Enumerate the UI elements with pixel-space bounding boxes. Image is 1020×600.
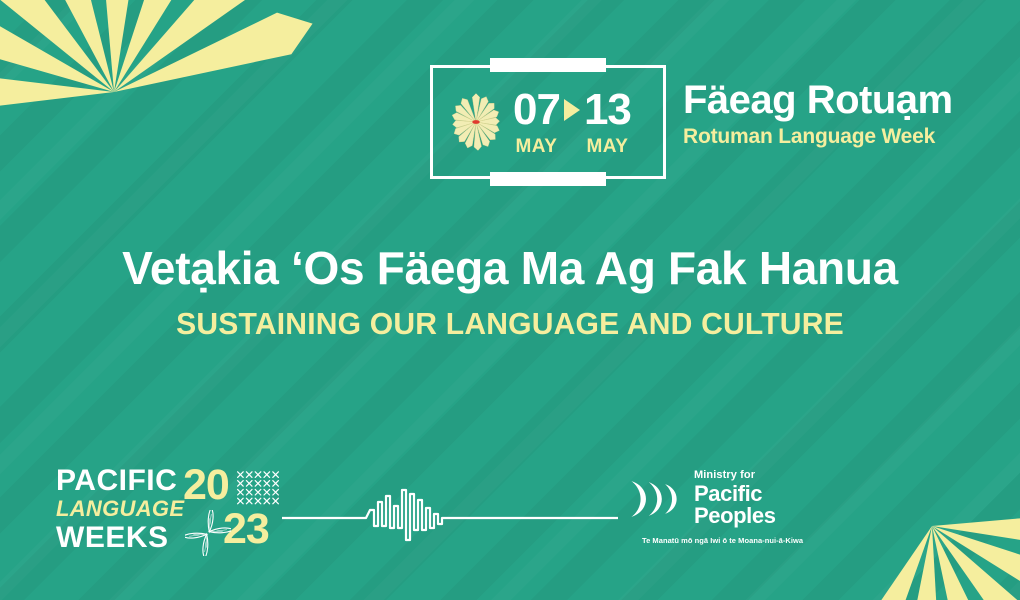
end-date: 13 MAY [584, 88, 631, 156]
audio-waveform-icon [282, 488, 618, 544]
theme-block: Vetạkia ʻOs Fäega Ma Ag Fak Hanua SUSTAI… [0, 243, 1020, 342]
badge-frame: 07 MAY 13 MAY [430, 65, 666, 179]
plw-line-pacific: PACIFIC [56, 466, 196, 496]
tefui-flower-icon [445, 91, 507, 153]
mpp-wordmark: Ministry for Pacific Peoples [694, 470, 776, 528]
mpp-eyebrow: Ministry for [694, 470, 776, 481]
end-day: 13 [584, 88, 631, 132]
brand-subtitle: Rotuman Language Week [683, 125, 1003, 149]
start-date: 07 MAY [513, 88, 560, 156]
poster-canvas: 07 MAY 13 MAY Fäeag Rotuạm Rotuman Langu… [0, 0, 1020, 600]
mpp-name-peoples: Peoples [694, 505, 776, 527]
four-leaf-flourish-icon [185, 510, 231, 556]
plw-line-language: LANGUAGE [56, 498, 196, 520]
plw-year-first: 20 [183, 464, 229, 507]
end-month: MAY [584, 137, 631, 156]
mpp-tagline: Te Manatū mō ngā Iwi ō te Moana-nui-ā-Ki… [642, 536, 803, 545]
plw-line-weeks: WEEKS [56, 523, 196, 553]
theme-main-text: Vetạkia ʻOs Fäega Ma Ag Fak Hanua [0, 243, 1020, 294]
mpp-wave-mark-icon [628, 476, 690, 522]
play-arrow-icon [564, 99, 580, 121]
start-day: 07 [513, 88, 560, 132]
mpp-name-pacific: Pacific [694, 483, 776, 505]
plw-wordmark: PACIFIC LANGUAGE WEEKS [56, 466, 196, 553]
ministry-for-pacific-peoples-logo: Ministry for Pacific Peoples Te Manatū m… [628, 470, 808, 554]
footer-row: PACIFIC LANGUAGE WEEKS 20 23 [0, 462, 1020, 558]
theme-sub-text: SUSTAINING OUR LANGUAGE AND CULTURE [15, 306, 1004, 342]
pacific-language-weeks-logo: PACIFIC LANGUAGE WEEKS 20 23 [56, 462, 281, 558]
brand-heading: Fäeag Rotuạm Rotuman Language Week [683, 80, 1003, 149]
brand-title: Fäeag Rotuạm [683, 80, 1003, 121]
start-month: MAY [513, 137, 560, 156]
date-range: 07 MAY 13 MAY [513, 88, 631, 156]
date-badge: 07 MAY 13 MAY [430, 58, 666, 186]
tapa-x-pattern-icon [236, 470, 284, 512]
